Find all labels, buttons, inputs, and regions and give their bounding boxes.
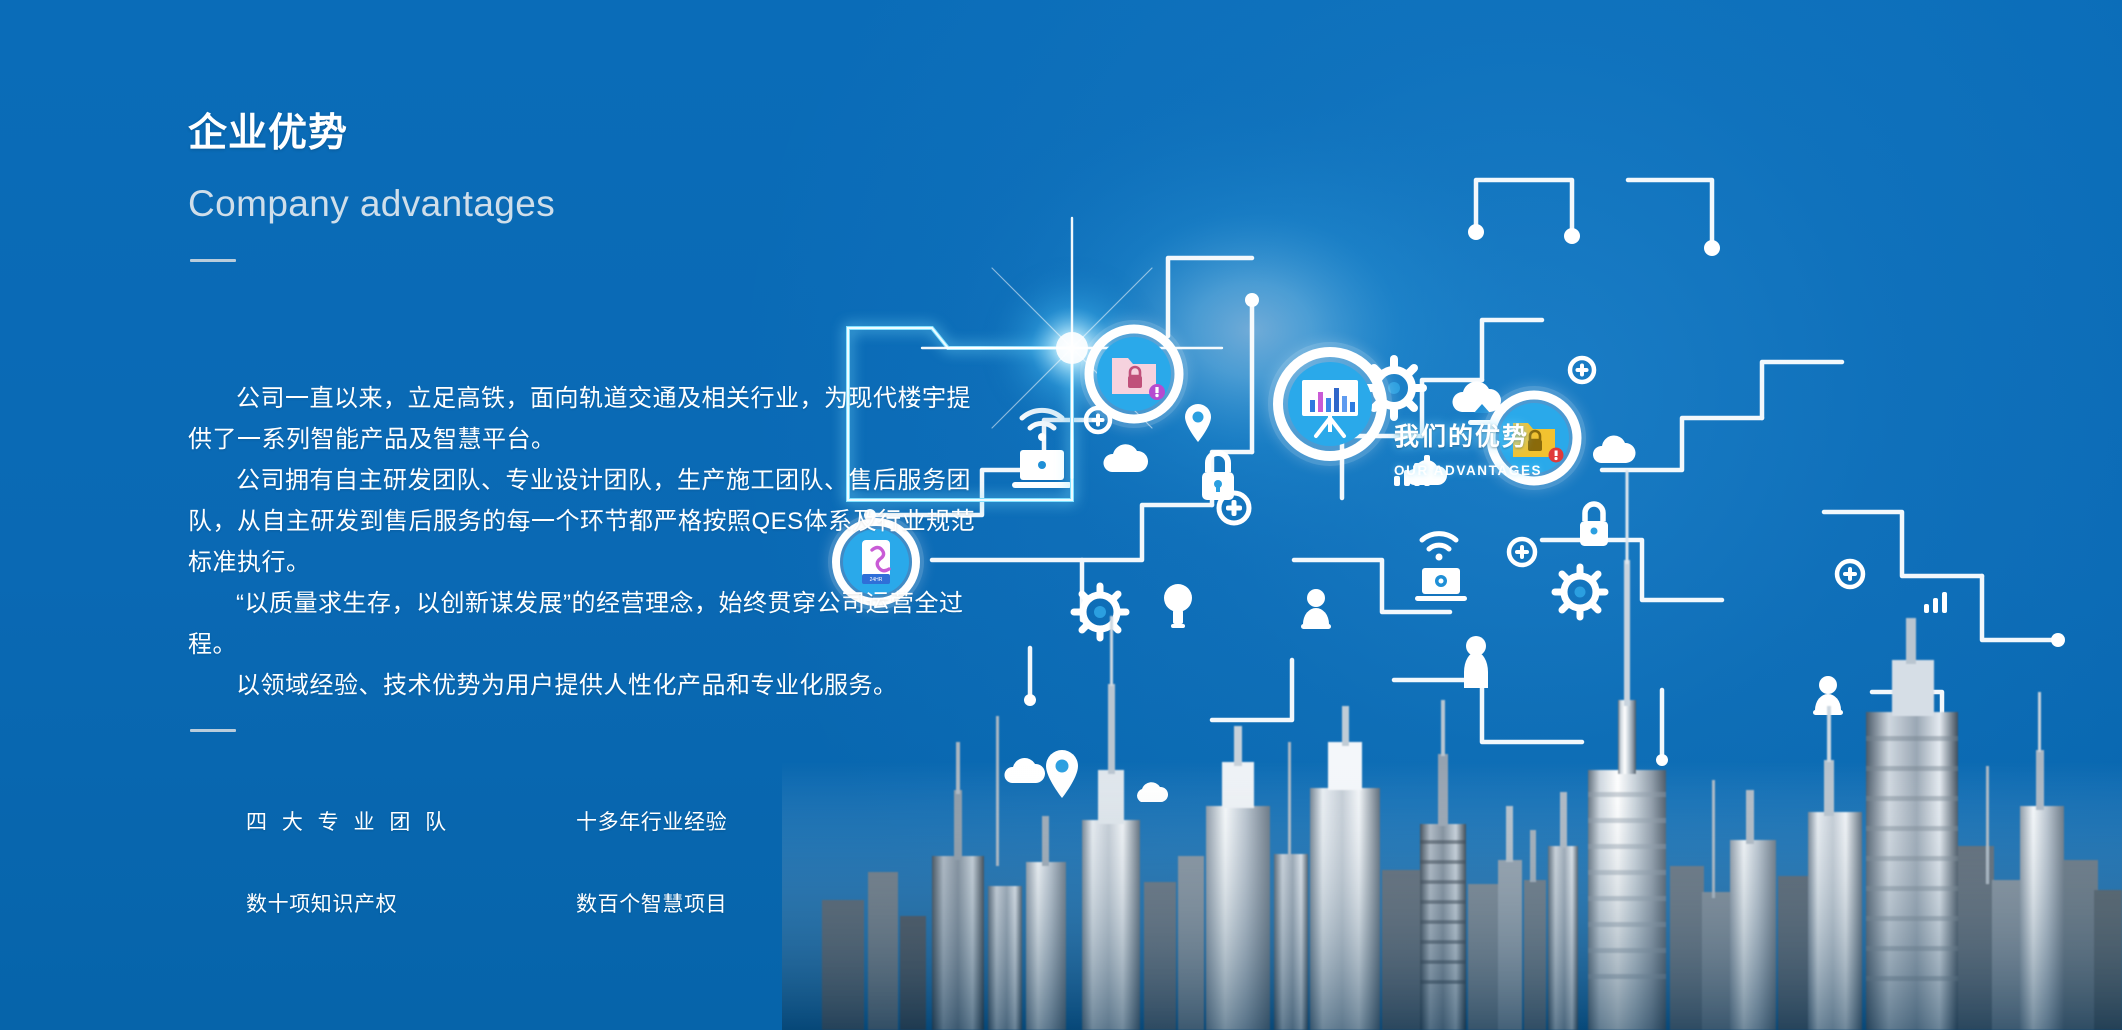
stats-grid: 四 大 专 业 团 队 十多年行业经验 数十项知识产权 数百个智慧项目	[246, 812, 886, 976]
text-column: 企业优势 Company advantages 公司一直以来，立足高铁，面向轨道…	[188, 0, 1018, 1030]
body-copy: 公司一直以来，立足高铁，面向轨道交通及相关行业，为现代楼宇提供了一系列智能产品及…	[188, 378, 978, 706]
folder-card-title-en: OUR ADVANTAGES	[1394, 464, 1624, 478]
divider-middle	[190, 729, 236, 732]
stats-row: 四 大 专 业 团 队 十多年行业经验	[246, 812, 886, 894]
divider-top	[190, 259, 236, 262]
paragraph: 公司一直以来，立足高铁，面向轨道交通及相关行业，为现代楼宇提供了一系列智能产品及…	[188, 378, 978, 460]
company-advantages-section: 24HR	[0, 0, 2122, 1030]
paragraph: 公司拥有自主研发团队、专业设计团队，生产施工团队、售后服务团队，从自主研发到售后…	[188, 460, 978, 583]
page-title-cn: 企业优势	[188, 114, 348, 153]
stats-row: 数十项知识产权 数百个智慧项目	[246, 894, 886, 976]
stat-patents: 数十项知识产权	[246, 894, 576, 915]
stat-teams: 四 大 专 业 团 队	[246, 812, 576, 833]
page-title-en: Company advantages	[188, 185, 555, 222]
paragraph: “以质量求生存，以创新谋发展”的经营理念，始终贯穿公司运营全过程。	[188, 583, 978, 665]
paragraph: 以领域经验、技术优势为用户提供人性化产品和专业化服务。	[188, 665, 978, 706]
advantages-folder-card: 我们的优势 OUR ADVANTAGES	[1394, 425, 1624, 478]
stat-projects: 数百个智慧项目	[576, 894, 727, 915]
stat-experience: 十多年行业经验	[576, 812, 727, 833]
folder-card-title-cn: 我们的优势	[1394, 425, 1624, 450]
